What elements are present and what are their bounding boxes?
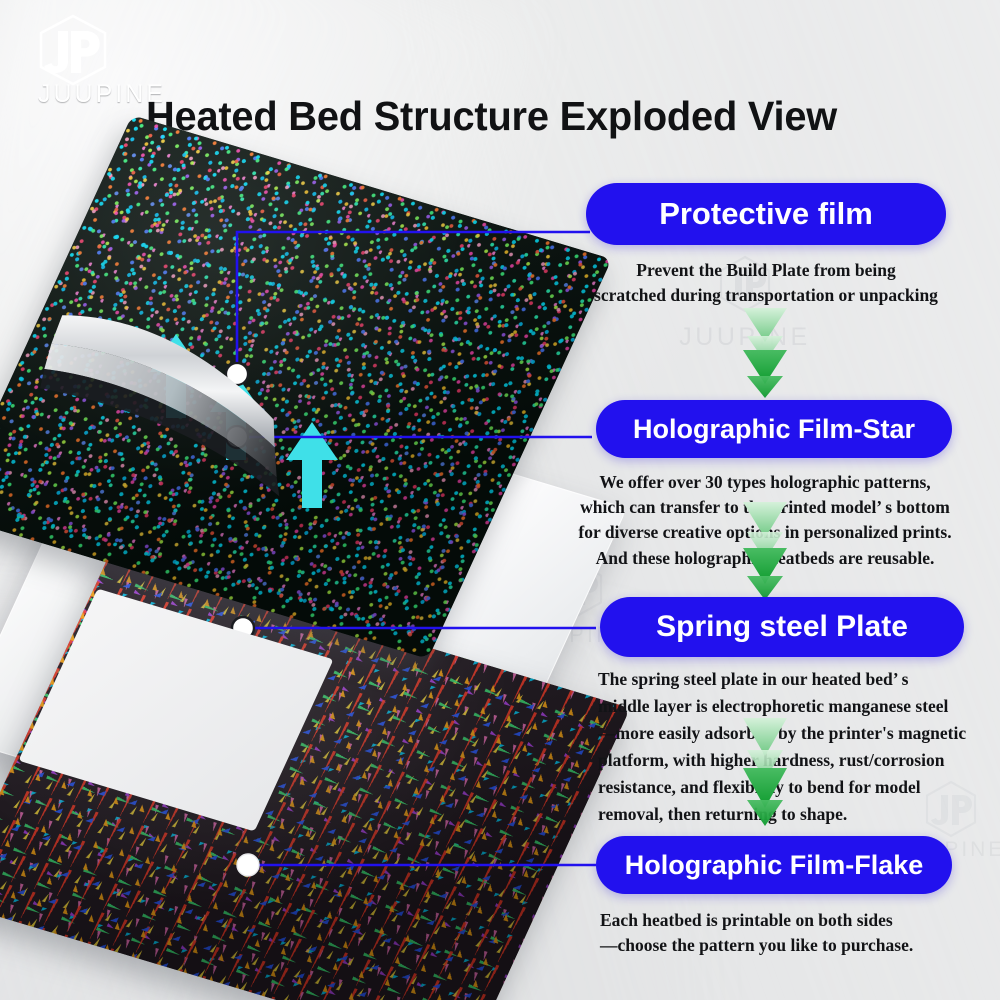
- peel-arrow-icon: [286, 422, 338, 508]
- description-line: scratched during transportation or unpac…: [540, 283, 992, 308]
- badge-label: Holographic Film-Flake: [625, 850, 924, 881]
- chevron-arrows-down: [733, 306, 797, 398]
- description-line: which can transfer to the printed model’…: [530, 495, 1000, 520]
- peel-arrow-icon: [150, 334, 202, 418]
- description-line: We offer over 30 types holographic patte…: [530, 470, 1000, 495]
- page-title: Heated Bed Structure Exploded View: [146, 93, 951, 140]
- holographic-flake-build-plate: [0, 640, 610, 1000]
- description-line: The spring steel plate in our heated bed…: [598, 666, 998, 693]
- infographic-canvas: JUUPINE JUUPINE JUUPINE: [0, 0, 1000, 1000]
- description-line: platform, with higher hardness, rust/cor…: [598, 747, 998, 774]
- peel-arrow-icon: [210, 374, 262, 460]
- badge-holographic-film-star[interactable]: Holographic Film-Star: [596, 400, 952, 458]
- badge-label: Protective film: [659, 196, 873, 232]
- description-line: —choose the pattern you like to purchase…: [600, 933, 1000, 958]
- description-line: removal, then returning to shape.: [598, 801, 998, 828]
- description-line: —more easily adsorbed by the printer's m…: [598, 720, 998, 747]
- badge-label: Spring steel Plate: [656, 610, 908, 644]
- badge-holographic-film-flake[interactable]: Holographic Film-Flake: [596, 836, 952, 894]
- description-protective-film: Prevent the Build Plate from being scrat…: [540, 258, 992, 308]
- description-holographic-film-flake: Each heatbed is printable on both sides …: [600, 908, 1000, 958]
- badge-label: Holographic Film-Star: [633, 414, 915, 445]
- badge-protective-film[interactable]: Protective film: [586, 183, 946, 245]
- watermark-text: JUUPINE: [660, 323, 830, 352]
- description-line: for diverse creative options in personal…: [530, 520, 1000, 545]
- description-line: middle layer is electrophoretic manganes…: [598, 693, 998, 720]
- badge-spring-steel-plate[interactable]: Spring steel Plate: [600, 597, 964, 657]
- jp-hexagon-icon: [36, 14, 154, 88]
- description-spring-steel-plate: The spring steel plate in our heated bed…: [598, 666, 998, 828]
- description-holographic-film-star: We offer over 30 types holographic patte…: [530, 470, 1000, 571]
- description-line: And these holographic heatbeds are reusa…: [530, 546, 1000, 571]
- description-line: resistance, and flexibility to bend for …: [598, 774, 998, 801]
- film-peel-arrows: [130, 300, 430, 530]
- description-line: Prevent the Build Plate from being: [540, 258, 992, 283]
- description-line: Each heatbed is printable on both sides: [600, 908, 1000, 933]
